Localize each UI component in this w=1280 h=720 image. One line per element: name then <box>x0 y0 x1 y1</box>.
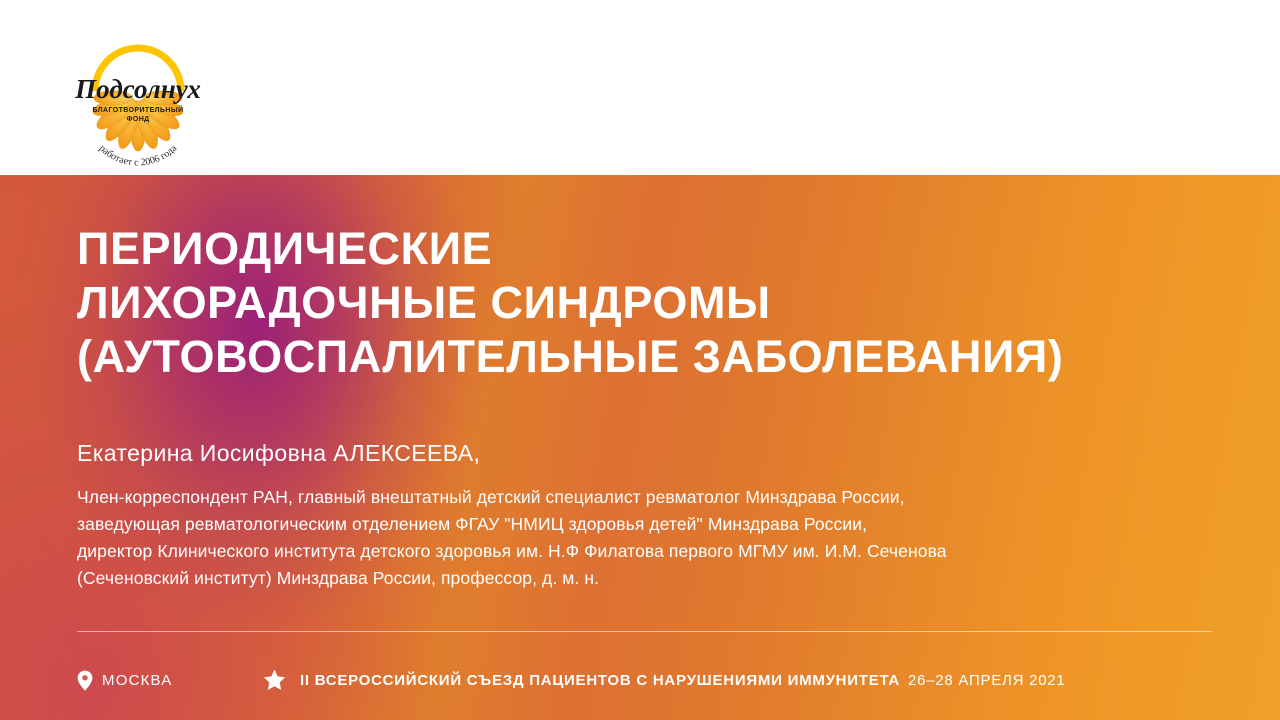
header-band: Подсолнух БЛАГОТВОРИТЕЛЬНЫЙ ФОНД работае… <box>0 0 1280 175</box>
presenter-affiliation: Член-корреспондент РАН, главный внештатн… <box>77 484 1207 592</box>
podsolnuh-foundation-logo: Подсолнух БЛАГОТВОРИТЕЛЬНЫЙ ФОНД работае… <box>62 8 214 170</box>
sunflower-logo-icon: Подсолнух БЛАГОТВОРИТЕЛЬНЫЙ ФОНД работае… <box>62 8 214 170</box>
page-title: ПЕРИОДИЧЕСКИЕ ЛИХОРАДОЧНЫЕ СИНДРОМЫ (АУТ… <box>77 222 1257 384</box>
affiliation-line: (Сеченовский институт) Минздрава России,… <box>77 565 1207 592</box>
presentation-slide: Подсолнух БЛАГОТВОРИТЕЛЬНЫЙ ФОНД работае… <box>0 0 1280 720</box>
logo-subtitle-line2: ФОНД <box>126 116 149 123</box>
footer-divider <box>77 631 1212 632</box>
logo-wordmark: Подсолнух <box>74 74 201 104</box>
footer-bar: МОСКВА II ВСЕРОССИЙСКИЙ СЪЕЗД ПАЦИЕНТОВ … <box>77 664 1212 696</box>
affiliation-line: Член-корреспондент РАН, главный внештатн… <box>77 484 1207 511</box>
presenter-name: Екатерина Иосифовна АЛЕКСЕЕВА, <box>77 440 480 467</box>
affiliation-line: директор Клинического института детского… <box>77 538 1207 565</box>
location-pin-icon <box>77 670 93 691</box>
star-icon <box>262 668 287 693</box>
footer-city-label: МОСКВА <box>102 672 172 689</box>
footer-event: II ВСЕРОССИЙСКИЙ СЪЕЗД ПАЦИЕНТОВ С НАРУШ… <box>262 668 1066 693</box>
footer-event-date: 26–28 АПРЕЛЯ 2021 <box>908 672 1065 689</box>
affiliation-line: заведующая ревматологическим отделением … <box>77 511 1207 538</box>
footer-event-name: II ВСЕРОССИЙСКИЙ СЪЕЗД ПАЦИЕНТОВ С НАРУШ… <box>300 672 900 689</box>
logo-subtitle-line1: БЛАГОТВОРИТЕЛЬНЫЙ <box>92 105 183 114</box>
footer-city: МОСКВА <box>77 670 262 691</box>
